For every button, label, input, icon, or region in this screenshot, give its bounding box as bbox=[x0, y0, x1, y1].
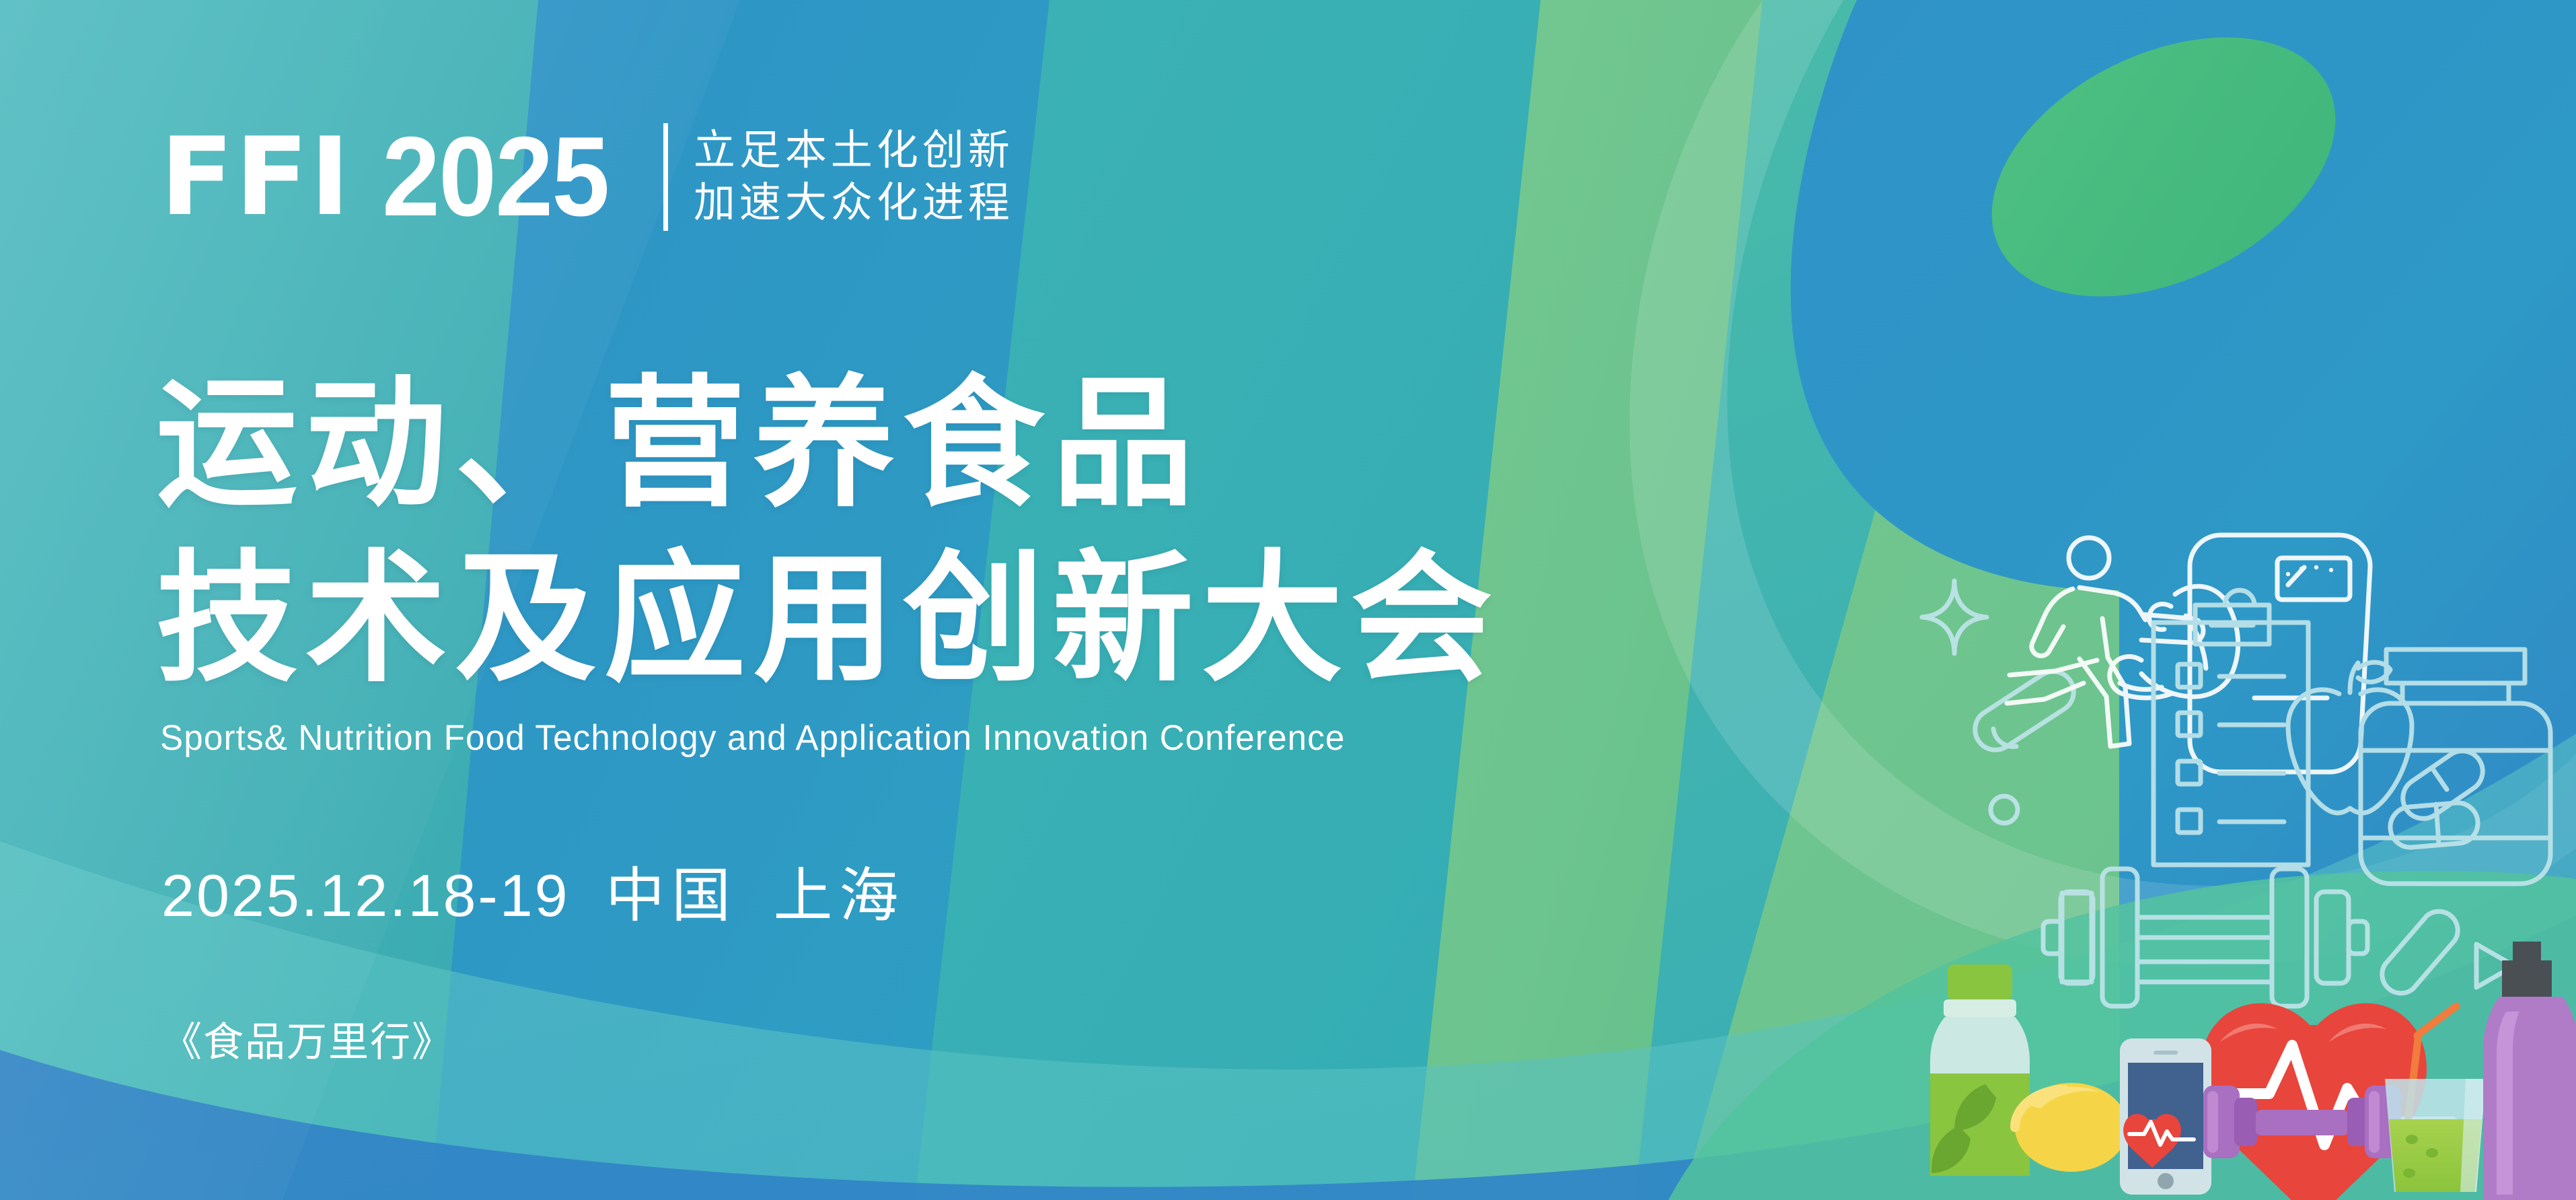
event-country: 中国 bbox=[605, 862, 737, 929]
event-city: 上海 bbox=[774, 862, 906, 929]
capsule-icon bbox=[1975, 672, 2073, 750]
lemon bbox=[2015, 1083, 2128, 1172]
clipboard-checklist-icon bbox=[2154, 590, 2308, 865]
logo-tagline: 立足本土化创新 加速大众化进程 bbox=[694, 127, 1014, 227]
scale-muscle-icon bbox=[2110, 535, 2370, 772]
conference-banner: FFI 2025 立足本土化创新 加速大众化进程 运动、营养食品 技术及应用创新… bbox=[0, 0, 2576, 1200]
tagline-line-2: 加速大众化进程 bbox=[694, 179, 1014, 227]
tagline-line-1: 立足本土化创新 bbox=[694, 127, 1014, 175]
smartphone-heartbeat bbox=[2120, 1038, 2211, 1195]
logo-divider-bar bbox=[663, 123, 668, 231]
sports-bottle bbox=[2483, 942, 2576, 1200]
brand-year: 2025 bbox=[382, 123, 608, 231]
headline-line-2: 技术及应用创新大会 bbox=[156, 532, 1500, 707]
logo-lockup: FFI 2025 立足本土化创新 加速大众化进程 bbox=[160, 123, 1014, 231]
dumbbell-outline-icon bbox=[2043, 869, 2367, 1006]
capsule-icon-right bbox=[2382, 911, 2458, 993]
sparkle-icon bbox=[1922, 581, 1987, 654]
running-person-icon bbox=[2007, 538, 2203, 746]
supplement-jar-icon bbox=[2361, 649, 2550, 884]
headline-line-1: 运动、营养食品 bbox=[156, 357, 1500, 532]
juice-bottle bbox=[1930, 964, 2030, 1176]
headline-block: 运动、营养食品 技术及应用创新大会 bbox=[156, 357, 1500, 707]
event-date: 2025.12.18-19 bbox=[161, 862, 570, 929]
fitness-nutrition-illustration bbox=[1903, 446, 2576, 1200]
event-date-location: 2025.12.18-19 中国 上海 bbox=[161, 863, 906, 929]
english-subtitle: Sports& Nutrition Food Technology and Ap… bbox=[160, 719, 1346, 758]
organizer-name: 《食品万里行》 bbox=[161, 1020, 453, 1065]
brand-mark-ffi: FFI bbox=[160, 126, 351, 228]
small-circle-icon bbox=[1991, 796, 2018, 823]
